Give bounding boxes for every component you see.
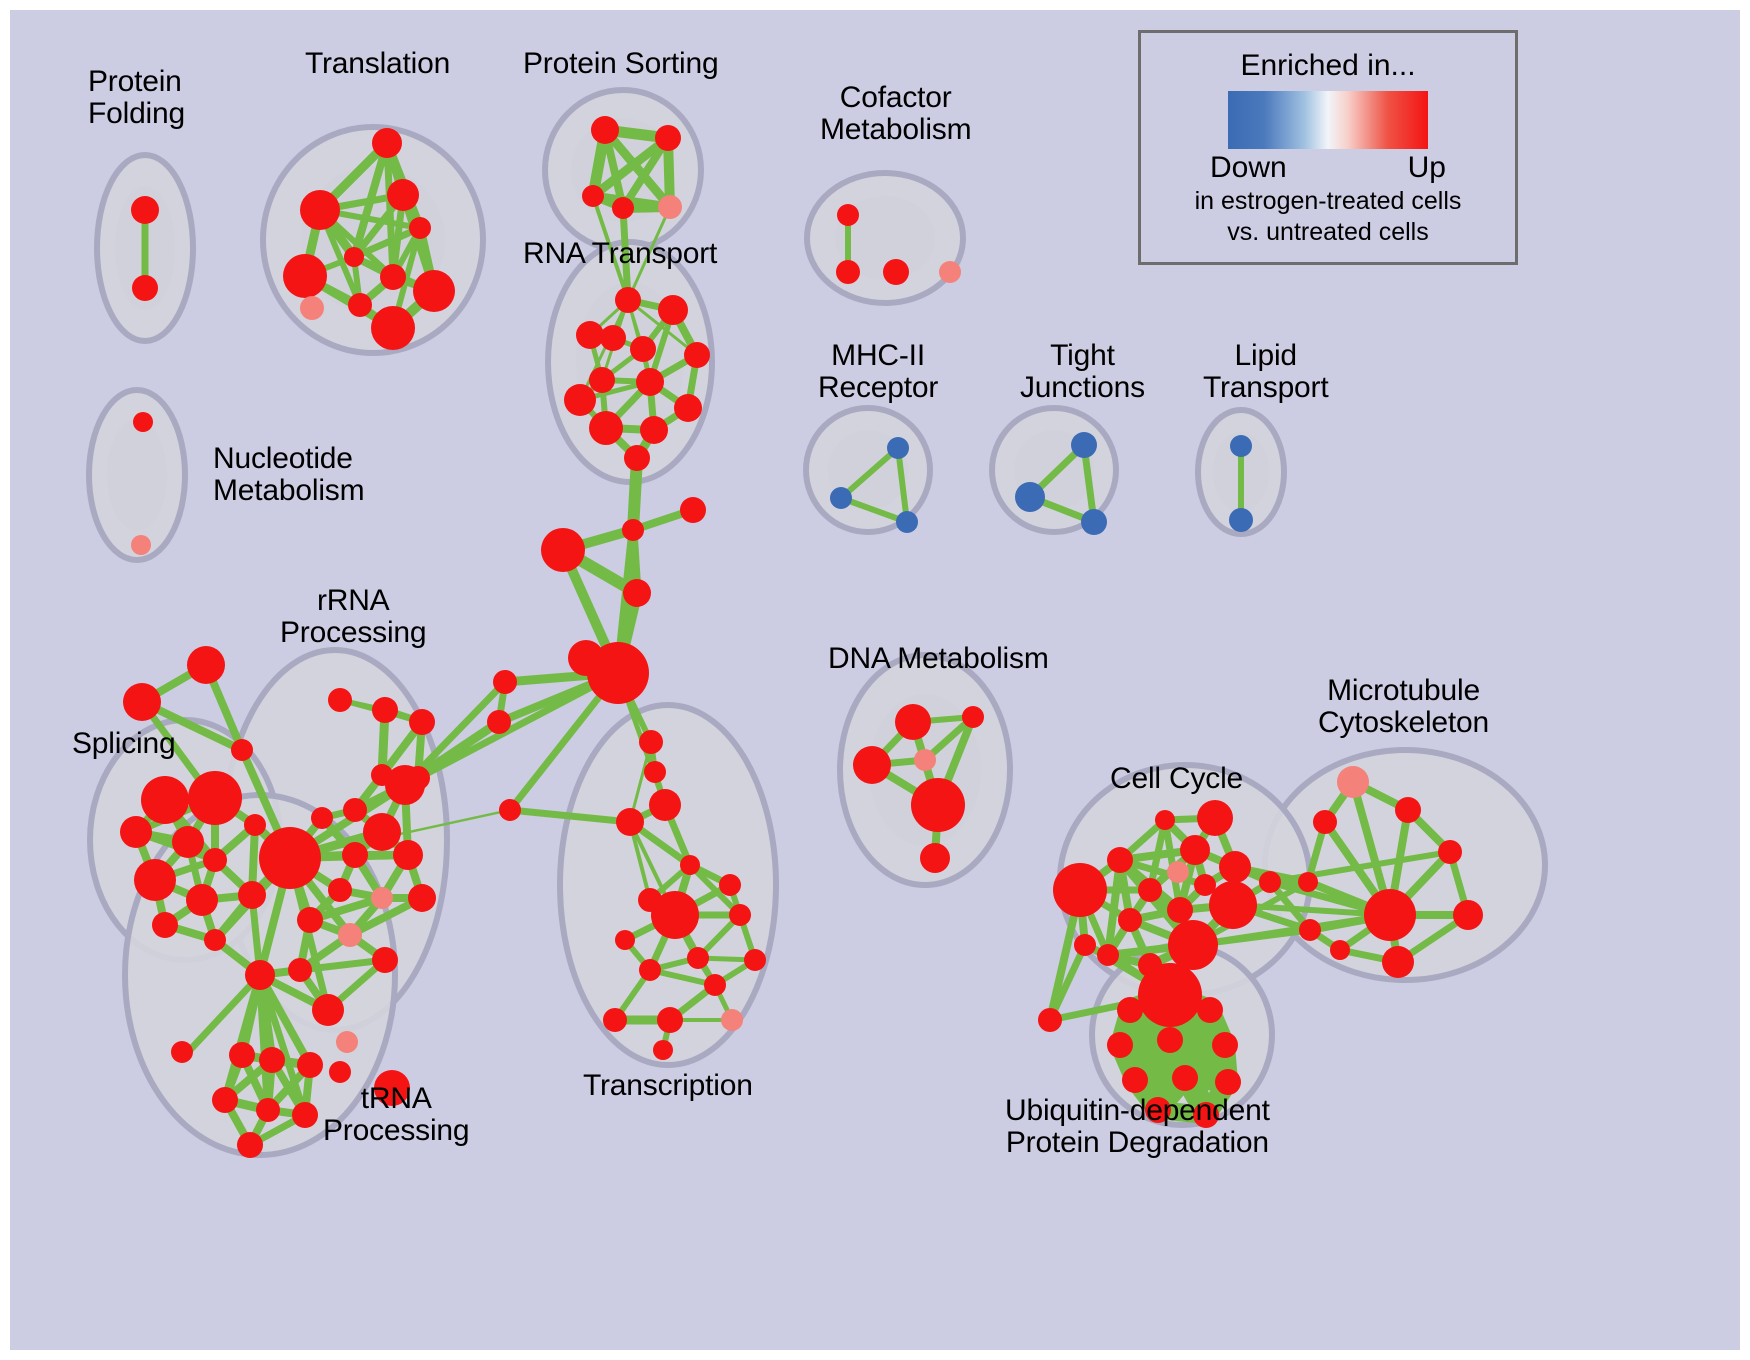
node-up[interactable] [1074,934,1096,956]
node-up[interactable] [704,974,726,996]
legend-caption-line1: in estrogen-treated cells [1195,187,1462,216]
node-up[interactable] [487,710,511,734]
node-down[interactable] [1015,482,1045,512]
node-up[interactable] [1038,1008,1062,1032]
node-up[interactable] [651,891,699,939]
node-up[interactable] [1395,797,1421,823]
node-up[interactable] [259,1047,285,1073]
node-up[interactable] [311,807,333,829]
node-up[interactable] [212,1087,238,1113]
cluster-label-microtubule: MicrotubuleCytoskeleton [1318,675,1489,739]
legend-title: Enriched in... [1240,49,1415,83]
figure-root: ProteinFolding Translation Protein Sorti… [0,0,1750,1360]
node-up[interactable] [541,528,585,572]
node-up[interactable] [292,1102,318,1128]
node-up[interactable] [131,196,159,224]
node-up[interactable] [371,306,415,350]
node-up[interactable] [616,808,644,836]
node-down[interactable] [1230,435,1252,457]
node-up[interactable] [348,293,372,317]
cluster-label-cofactor-metabolism: CofactorMetabolism [820,82,971,146]
node-up-faint[interactable] [131,535,151,555]
node-up[interactable] [1212,1032,1238,1058]
node-up[interactable] [589,411,623,445]
node-up[interactable] [187,646,225,684]
node-up[interactable] [624,445,650,471]
node-up[interactable] [1313,810,1337,834]
node-up[interactable] [1364,889,1416,941]
node-up[interactable] [729,904,751,926]
cluster-label-mhc-ii-receptor: MHC-IIReceptor [818,340,938,404]
node-up[interactable] [499,799,521,821]
node-up-faint[interactable] [336,1031,358,1053]
cluster-label-dna-metabolism: DNA Metabolism [828,643,1049,675]
cluster-label-protein-sorting: Protein Sorting [523,48,718,80]
node-up[interactable] [172,826,204,858]
node-up[interactable] [1157,1027,1183,1053]
node-down[interactable] [1081,509,1107,535]
node-up[interactable] [343,798,367,822]
node-up-faint[interactable] [338,923,362,947]
cluster-label-ubiquitin: Ubiquitin-dependentProtein Degradation [1005,1095,1270,1159]
node-up[interactable] [612,197,634,219]
node-up-faint[interactable] [658,195,682,219]
node-up[interactable] [837,204,859,226]
node-up[interactable] [244,814,266,836]
node-up[interactable] [1122,1067,1148,1093]
node-up[interactable] [204,929,226,951]
node-up[interactable] [962,706,984,728]
node-up[interactable] [123,683,161,721]
node-up[interactable] [372,947,398,973]
node-up[interactable] [589,367,615,393]
node-up[interactable] [649,789,681,821]
node-up[interactable] [372,697,398,723]
cluster-label-protein-folding: ProteinFolding [88,66,185,130]
node-up[interactable] [256,1098,280,1122]
node-up[interactable] [1107,847,1133,873]
node-up[interactable] [744,949,766,971]
cluster-label-rrna-processing: rRNAProcessing [280,585,426,649]
node-up[interactable] [895,704,931,740]
node-up[interactable] [1298,872,1318,892]
node-up[interactable] [636,368,664,396]
node-up[interactable] [644,761,666,783]
node-up[interactable] [653,1040,673,1060]
node-up[interactable] [883,259,909,285]
node-up[interactable] [564,384,596,416]
cluster-label-tight-junctions: TightJunctions [1020,340,1145,404]
node-up[interactable] [603,1008,627,1032]
node-up[interactable] [657,1007,683,1033]
node-up[interactable] [1197,800,1233,836]
node-up[interactable] [615,287,641,313]
node-up[interactable] [132,275,158,301]
node-up[interactable] [297,1052,323,1078]
node-up[interactable] [853,746,891,784]
node-up[interactable] [1382,946,1414,978]
node-down[interactable] [887,437,909,459]
node-up[interactable] [409,217,431,239]
node-up[interactable] [1180,835,1210,865]
node-up[interactable] [639,959,661,981]
node-up[interactable] [1138,963,1202,1027]
legend-box: Enriched in... Down Up in estrogen-treat… [1138,30,1518,265]
node-up[interactable] [120,816,152,848]
node-up[interactable] [288,958,312,982]
node-up[interactable] [493,670,517,694]
node-up[interactable] [171,1041,193,1063]
node-down[interactable] [896,511,918,533]
node-up[interactable] [393,840,423,870]
node-up[interactable] [576,321,604,349]
node-up[interactable] [1172,1065,1198,1091]
cluster-label-splicing: Splicing [72,728,175,760]
node-up-faint[interactable] [914,749,936,771]
node-up[interactable] [1168,920,1218,970]
node-up[interactable] [1438,840,1462,864]
node-up[interactable] [1215,1069,1241,1095]
node-up[interactable] [1330,940,1350,960]
node-up[interactable] [372,128,402,158]
node-up-faint[interactable] [1167,861,1189,883]
cluster-label-transcription: Transcription [583,1070,753,1102]
cluster-label-nucleotide-metabolism: NucleotideMetabolism [213,443,364,507]
node-up[interactable] [237,1132,263,1158]
node-up[interactable] [674,394,702,422]
node-up[interactable] [1197,997,1223,1023]
node-up-faint[interactable] [371,887,393,909]
node-up[interactable] [639,730,663,754]
legend-high-label: Up [1408,151,1446,185]
legend-caption-line2: vs. untreated cells [1227,218,1429,247]
legend-color-gradient [1228,91,1428,149]
node-up[interactable] [568,640,604,676]
legend-low-label: Down [1210,151,1287,185]
node-up[interactable] [1117,997,1143,1023]
node-up[interactable] [387,179,419,211]
node-up-faint[interactable] [721,1009,743,1031]
node-up[interactable] [1155,810,1175,830]
node-up[interactable] [259,827,321,889]
node-up[interactable] [342,842,368,868]
node-up-faint[interactable] [939,261,961,283]
node-up[interactable] [231,739,253,761]
node-up[interactable] [312,994,344,1026]
node-up[interactable] [1138,878,1162,902]
node-up[interactable] [238,881,266,909]
node-up[interactable] [1209,881,1257,929]
node-down[interactable] [830,487,852,509]
node-up[interactable] [1097,944,1119,966]
node-up[interactable] [680,497,706,523]
node-up[interactable] [141,776,189,824]
node-up[interactable] [344,247,364,267]
node-up[interactable] [630,336,656,362]
node-up[interactable] [1453,900,1483,930]
node-up[interactable] [680,855,700,875]
node-up[interactable] [385,765,425,805]
node-up-faint[interactable] [300,296,324,320]
node-up[interactable] [1299,919,1321,941]
node-up[interactable] [836,260,860,284]
node-up[interactable] [203,848,227,872]
node-up[interactable] [719,874,741,896]
node-up[interactable] [622,519,644,541]
node-up-faint[interactable] [1337,766,1369,798]
node-up[interactable] [408,884,436,912]
cluster-label-lipid-transport: LipidTransport [1203,340,1328,404]
node-up[interactable] [328,688,352,712]
node-up[interactable] [133,412,153,432]
node-up[interactable] [300,190,340,230]
node-up[interactable] [1053,863,1107,917]
cluster-label-cell-cycle: Cell Cycle [1110,763,1243,795]
cluster-label-translation: Translation [305,48,450,80]
node-up[interactable] [229,1042,255,1068]
node-up[interactable] [1107,1032,1133,1058]
node-up[interactable] [380,264,406,290]
cluster-label-rna-transport: RNA Transport [523,238,717,270]
node-up[interactable] [134,859,176,901]
node-up[interactable] [297,907,323,933]
node-up[interactable] [186,884,218,916]
legend-endpoints: Down Up [1210,151,1446,185]
node-up[interactable] [615,930,635,950]
node-up[interactable] [920,843,950,873]
node-up[interactable] [658,295,688,325]
node-up[interactable] [600,325,626,351]
node-up[interactable] [1219,851,1251,883]
cluster-label-trna-processing: tRNAProcessing [323,1083,469,1147]
node-up[interactable] [413,270,455,312]
node-up[interactable] [329,1061,351,1083]
node-up[interactable] [152,912,178,938]
node-up[interactable] [655,125,681,151]
node-up[interactable] [363,813,401,851]
node-up[interactable] [687,947,709,969]
node-up[interactable] [640,416,668,444]
node-up[interactable] [328,878,352,902]
node-up[interactable] [1259,871,1281,893]
network-canvas: ProteinFolding Translation Protein Sorti… [10,10,1740,1350]
node-down[interactable] [1229,508,1253,532]
node-up[interactable] [1167,897,1193,923]
node-up[interactable] [582,185,604,207]
node-up[interactable] [1118,908,1142,932]
node-up[interactable] [623,579,651,607]
node-up[interactable] [684,342,710,368]
node-down[interactable] [1071,432,1097,458]
node-up[interactable] [591,116,619,144]
node-up[interactable] [911,778,965,832]
node-up[interactable] [207,794,229,816]
node-up[interactable] [283,254,327,298]
node-up[interactable] [409,709,435,735]
node-up[interactable] [245,960,275,990]
